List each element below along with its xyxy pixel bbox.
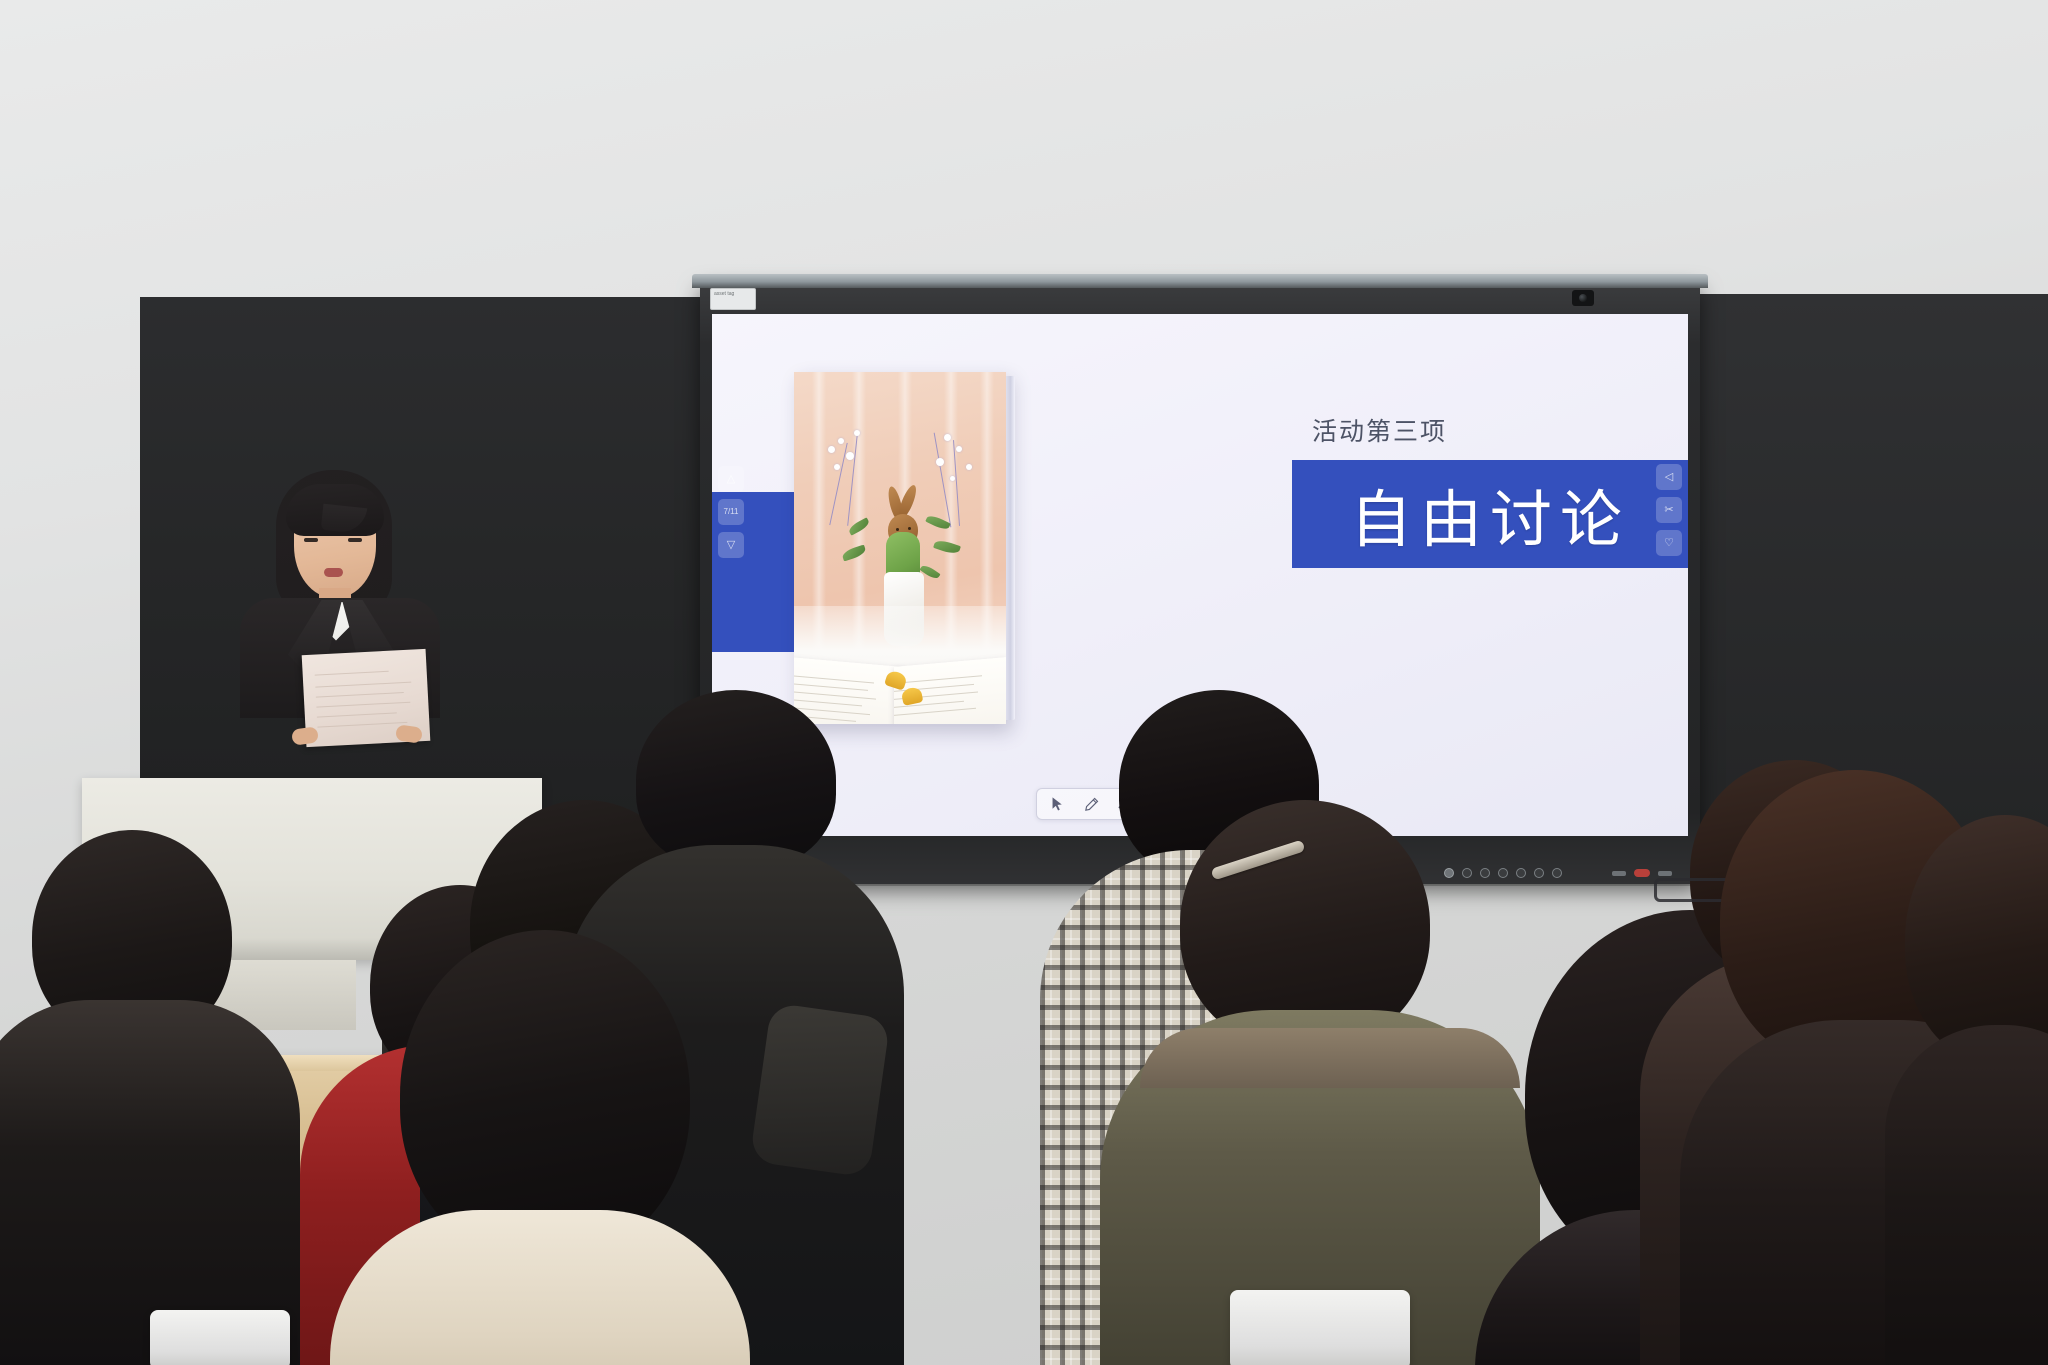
share-button[interactable]: ◁ xyxy=(1656,464,1682,490)
slide-subtitle: 活动第三项 xyxy=(1312,412,1447,448)
chair-back-center xyxy=(1230,1290,1410,1365)
book-page-edge xyxy=(1005,376,1015,720)
chair-back-left xyxy=(150,1310,290,1365)
slide-photo xyxy=(794,372,1006,724)
audience-backpack xyxy=(749,1002,890,1177)
audience-body xyxy=(330,1210,750,1365)
audience-head xyxy=(636,690,836,870)
power-button[interactable] xyxy=(1634,869,1650,877)
list-item xyxy=(1905,815,2048,1365)
asset-tag-sticker: asset tag xyxy=(710,288,756,310)
bezel-slot-left xyxy=(1612,871,1626,876)
photo-image xyxy=(794,372,1006,724)
presenter-fringe xyxy=(286,484,384,536)
camera-icon xyxy=(1572,290,1594,306)
list-item xyxy=(330,1150,750,1365)
back-button[interactable] xyxy=(1552,868,1562,878)
camera-lens xyxy=(1579,294,1587,302)
tools-button[interactable]: ✂ xyxy=(1656,497,1682,523)
cursor-tool-icon[interactable] xyxy=(1047,794,1067,814)
presenter xyxy=(232,470,452,700)
slide-title-banner: 自由讨论 xyxy=(1292,460,1688,568)
page-indicator: 7/11 xyxy=(718,499,744,525)
presenter-mouth xyxy=(324,568,343,577)
audience-body xyxy=(1885,1025,2048,1365)
slide-nav-right[interactable]: ◁ ✂ ♡ xyxy=(1656,464,1682,556)
classroom-scene: asset tag xyxy=(0,0,2048,1365)
slide-nav-left[interactable]: △ 7/11 ▽ xyxy=(718,466,744,558)
page-down-button[interactable]: ▽ xyxy=(718,532,744,558)
list-item xyxy=(0,830,300,1365)
comment-button[interactable]: ♡ xyxy=(1656,530,1682,556)
page-up-button[interactable]: △ xyxy=(718,466,744,492)
audience-collar xyxy=(1140,1028,1520,1088)
display-top-edge xyxy=(692,274,1708,288)
slide-title: 自由讨论 xyxy=(1350,469,1630,559)
